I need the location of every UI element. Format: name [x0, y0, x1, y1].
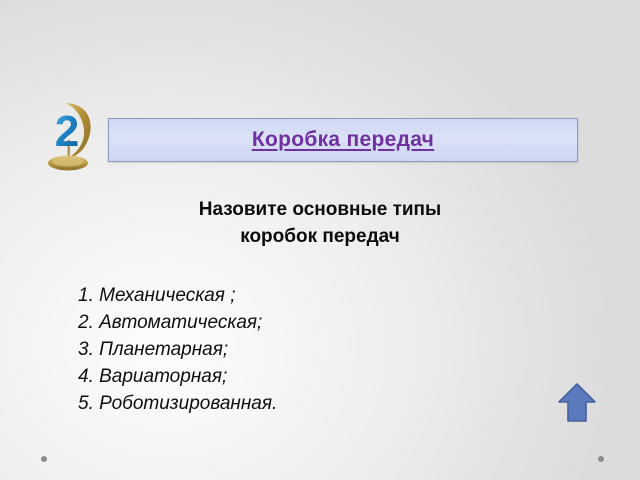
- footer-dot: [598, 456, 604, 462]
- arrow-up-icon: [556, 381, 598, 426]
- svg-text:2: 2: [55, 107, 79, 156]
- trophy-number-badge: 2: [38, 98, 100, 176]
- nav-up-button[interactable]: [556, 381, 598, 426]
- list-item: 3. Планетарная;: [78, 336, 277, 363]
- slide-canvas: 2 Коробка передач Назовите основные типы…: [0, 0, 640, 480]
- footer-dot: [41, 456, 47, 462]
- list-item: 2. Автоматическая;: [78, 309, 277, 336]
- title-plaque: Коробка передач: [108, 118, 578, 162]
- answer-list: 1. Механическая ; 2. Автоматическая; 3. …: [78, 282, 277, 417]
- list-item: 4. Вариаторная;: [78, 363, 277, 390]
- list-item: 5. Роботизированная.: [78, 390, 277, 417]
- question-line-2: коробок передач: [110, 223, 530, 250]
- list-item: 1. Механическая ;: [78, 282, 277, 309]
- question-heading: Назовите основные типы коробок передач: [110, 196, 530, 250]
- question-line-1: Назовите основные типы: [110, 196, 530, 223]
- page-title: Коробка передач: [252, 128, 434, 152]
